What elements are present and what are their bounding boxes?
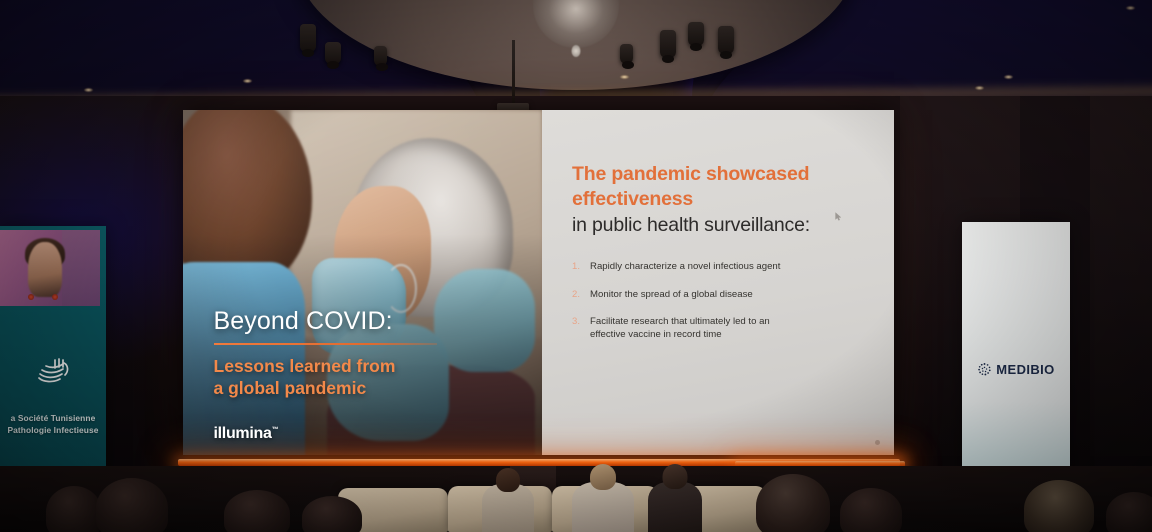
ceiling-downlight <box>84 88 93 92</box>
microphone-icon <box>52 294 58 300</box>
list-item: 2. Monitor the spread of a global diseas… <box>572 288 864 301</box>
projection-screen: Beyond COVID: Lessons learned from a glo… <box>183 110 894 455</box>
list-item-text: Monitor the spread of a global disease <box>590 288 753 301</box>
slide-heading-line3: in public health surveillance: <box>572 213 864 238</box>
stage-spotlight <box>300 24 316 52</box>
medibio-logo: MEDIBIO <box>962 362 1070 377</box>
audience-silhouette <box>96 478 168 532</box>
slide-photo-panel: Beyond COVID: Lessons learned from a glo… <box>183 110 542 455</box>
speaker-video-feed <box>0 230 100 306</box>
list-item-text: Rapidly characterize a novel infectious … <box>590 260 780 273</box>
title-divider <box>214 343 437 345</box>
microphone-icon <box>28 294 34 300</box>
slide-corner-dot <box>875 440 880 445</box>
slide-text-panel: The pandemic showcased effectiveness in … <box>542 110 894 455</box>
stage-spotlight <box>374 46 387 66</box>
stage-spotlight <box>620 44 633 64</box>
audience-silhouette <box>1106 492 1152 532</box>
list-item-number: 1. <box>572 260 590 273</box>
slide-heading-line1: The pandemic showcased <box>572 162 864 187</box>
wall-panel <box>1090 96 1152 456</box>
ceiling-downlight <box>620 75 629 79</box>
presentation-slide: Beyond COVID: Lessons learned from a glo… <box>183 110 894 455</box>
speaker-figure <box>28 242 62 297</box>
panelist-head <box>496 468 520 492</box>
illumina-logo: illumina™ <box>214 425 279 443</box>
panelist-head <box>663 464 688 489</box>
trademark-icon: ™ <box>272 427 279 434</box>
ceiling-downlight <box>243 79 252 83</box>
slide-heading-line2: effectiveness <box>572 187 864 212</box>
video-backdrop <box>62 230 100 306</box>
panelist <box>482 484 534 532</box>
stage-spotlight <box>688 22 704 46</box>
panelist <box>572 482 634 532</box>
slide-subtitle-line1: Lessons learned from <box>214 355 516 377</box>
ceiling-downlight <box>1004 75 1013 79</box>
panelist-head <box>590 464 616 490</box>
stage-spotlight <box>718 26 734 54</box>
slide-numbered-list: 1. Rapidly characterize a novel infectio… <box>572 260 864 341</box>
audience-silhouette <box>302 496 362 532</box>
banner-org-name: a Société Tunisienne Pathologie Infectie… <box>0 412 106 436</box>
ceiling-downlight <box>975 86 984 90</box>
audience-silhouette <box>46 486 102 532</box>
audience-silhouette <box>1024 480 1094 532</box>
illumina-wordmark: illumina <box>214 425 272 442</box>
banner-societe-tunisienne: a Société Tunisienne Pathologie Infectie… <box>0 226 106 478</box>
list-item-number: 2. <box>572 288 590 301</box>
audience-silhouette <box>840 488 902 532</box>
list-item-text: Facilitate research that ultimately led … <box>590 315 790 341</box>
audience-silhouette <box>224 490 290 532</box>
conference-hall-scene: Beyond COVID: Lessons learned from a glo… <box>0 0 1152 532</box>
list-item: 3. Facilitate research that ultimately l… <box>572 315 864 341</box>
panelist <box>648 482 702 532</box>
banner-org-line1: a Société Tunisienne <box>0 412 106 424</box>
medibio-wordmark: MEDIBIO <box>996 362 1054 377</box>
list-item-number: 3. <box>572 315 590 341</box>
list-item: 1. Rapidly characterize a novel infectio… <box>572 260 864 273</box>
projector-mount-pole <box>512 40 515 104</box>
medibio-dotted-circle-icon <box>977 362 992 377</box>
photo-gradient-overlay <box>183 110 542 455</box>
banner-org-line2: Pathologie Infectieuse <box>0 424 106 436</box>
stage-spotlight <box>660 30 676 58</box>
mouse-cursor-icon <box>835 212 842 221</box>
slide-title-block: Beyond COVID: Lessons learned from a glo… <box>214 307 516 400</box>
stage-spotlight <box>325 42 341 64</box>
audience-silhouette <box>756 474 830 532</box>
slide-subtitle-line2: a global pandemic <box>214 377 516 399</box>
ceiling-downlight <box>1126 6 1135 10</box>
arabic-calligraphy-logo <box>33 352 73 392</box>
slide-title: Beyond COVID: <box>214 307 516 336</box>
